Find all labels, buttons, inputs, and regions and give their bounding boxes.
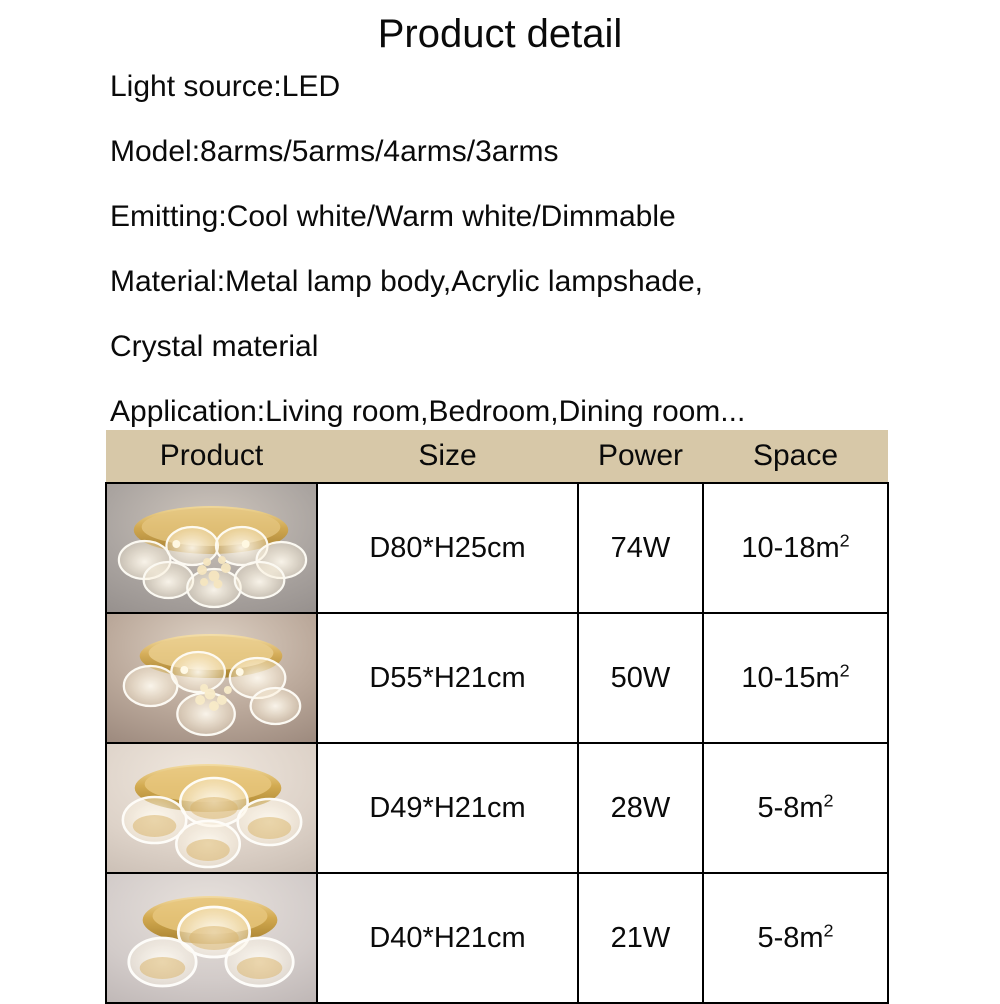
cell-power: 21W <box>578 873 703 1003</box>
table-row: D55*H21cm 50W 10-15m2 <box>106 613 888 743</box>
column-header-power: Power <box>578 430 703 483</box>
product-spec-table: Product Size Power Space <box>105 430 889 1004</box>
product-photo-cell <box>106 873 317 1003</box>
cell-size: D40*H21cm <box>317 873 578 1003</box>
space-unit-superscript: 2 <box>824 790 834 810</box>
spec-line-emitting: Emitting:Cool white/Warm white/Dimmable <box>110 184 1000 249</box>
space-unit-superscript: 2 <box>824 920 834 940</box>
product-photo-cell <box>106 613 317 743</box>
product-photo-cell <box>106 743 317 873</box>
cell-size: D49*H21cm <box>317 743 578 873</box>
cell-size: D55*H21cm <box>317 613 578 743</box>
column-header-size: Size <box>317 430 578 483</box>
cell-space: 10-18m2 <box>703 483 888 613</box>
table-row: D49*H21cm 28W 5-8m2 <box>106 743 888 873</box>
spec-line-material: Material:Metal lamp body,Acrylic lampsha… <box>110 249 1000 314</box>
table-header-row: Product Size Power Space <box>106 430 888 483</box>
space-value: 10-18m <box>741 532 839 564</box>
ceiling-lamp-8arms-photo <box>107 484 316 612</box>
cell-power: 50W <box>578 613 703 743</box>
column-header-space: Space <box>703 430 888 483</box>
table-row: D80*H25cm 74W 10-18m2 <box>106 483 888 613</box>
table-body: D80*H25cm 74W 10-18m2 <box>106 483 888 1003</box>
space-value: 10-15m <box>741 662 839 694</box>
spec-list: Light source:LED Model:8arms/5arms/4arms… <box>0 54 1000 444</box>
space-unit-superscript: 2 <box>840 530 850 550</box>
spec-line-material-cont: Crystal material <box>110 314 1000 379</box>
product-spec-table-wrapper: Product Size Power Space <box>105 430 887 1004</box>
spec-line-light-source: Light source:LED <box>110 54 1000 119</box>
product-photo-cell <box>106 483 317 613</box>
page-title: Product detail <box>0 0 1000 54</box>
space-value: 5-8m <box>757 922 823 954</box>
table-row: D40*H21cm 21W 5-8m2 <box>106 873 888 1003</box>
cell-size: D80*H25cm <box>317 483 578 613</box>
space-unit-superscript: 2 <box>840 660 850 680</box>
spec-line-model: Model:8arms/5arms/4arms/3arms <box>110 119 1000 184</box>
ceiling-lamp-5arms-photo <box>107 614 316 742</box>
space-value: 5-8m <box>757 792 823 824</box>
ceiling-lamp-4arms-photo <box>107 744 316 872</box>
ceiling-lamp-3arms-photo <box>107 874 316 1002</box>
cell-space: 5-8m2 <box>703 873 888 1003</box>
table-header: Product Size Power Space <box>106 430 888 483</box>
cell-power: 74W <box>578 483 703 613</box>
column-header-product: Product <box>106 430 317 483</box>
cell-space: 5-8m2 <box>703 743 888 873</box>
cell-space: 10-15m2 <box>703 613 888 743</box>
cell-power: 28W <box>578 743 703 873</box>
